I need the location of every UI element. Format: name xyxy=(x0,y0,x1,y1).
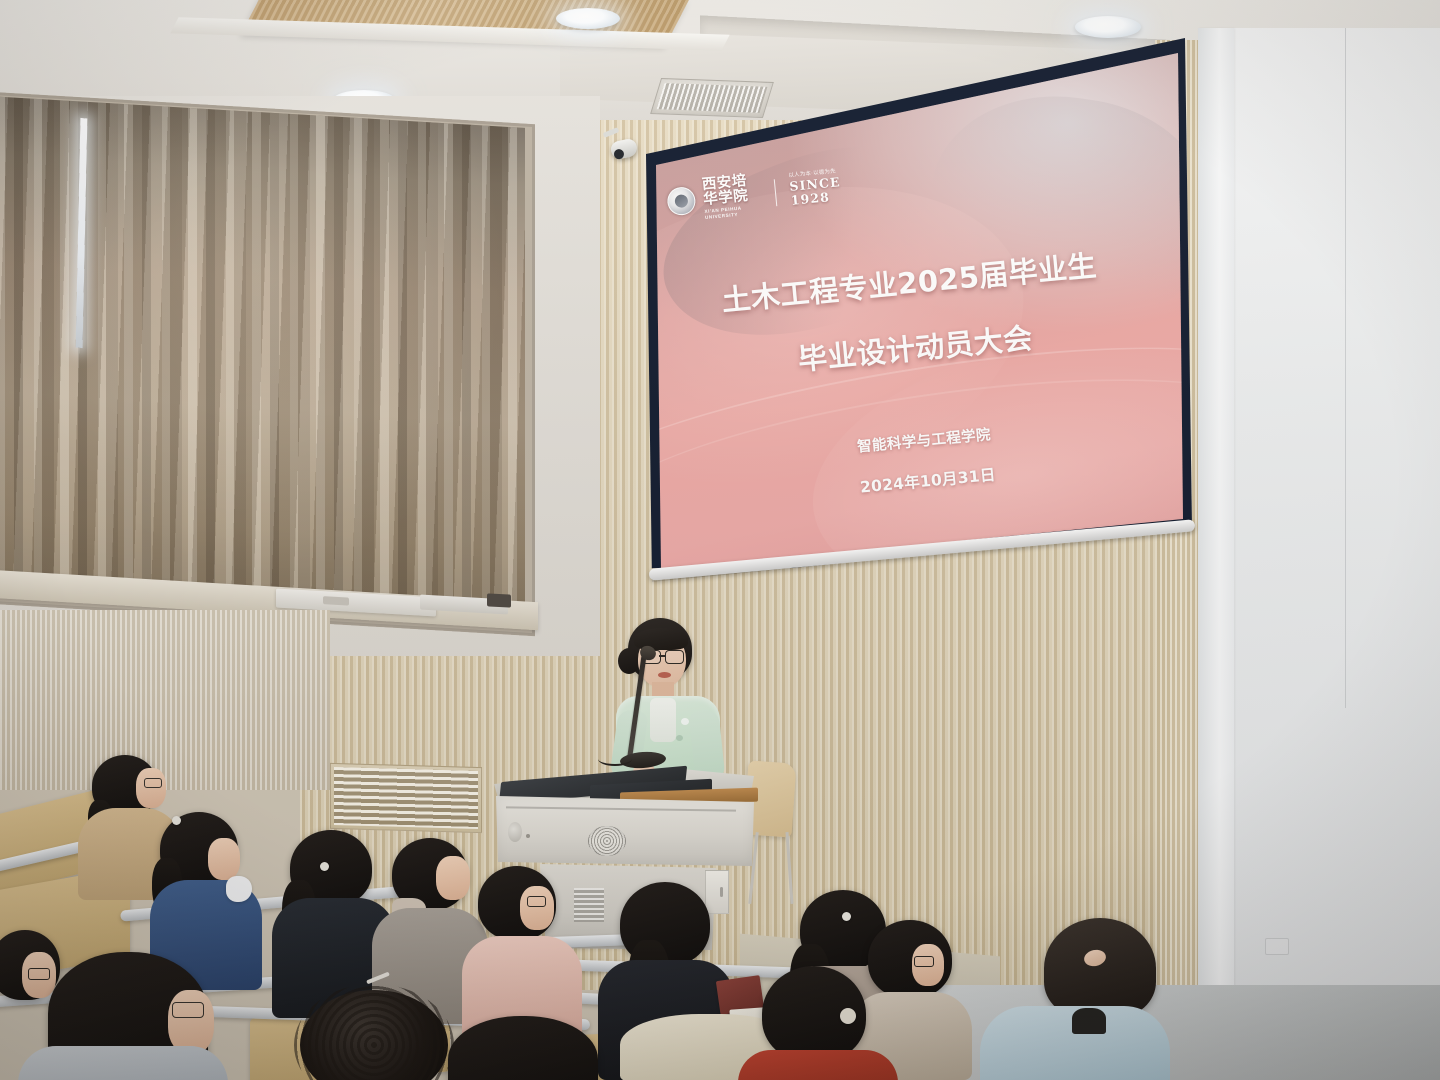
audience-head xyxy=(300,990,448,1080)
eyeglasses-icon xyxy=(527,896,546,907)
audience-face xyxy=(520,886,554,930)
hair-tie xyxy=(842,912,851,921)
audience-face xyxy=(136,768,166,808)
audience-head xyxy=(1044,918,1156,1018)
eyeglasses-icon xyxy=(144,778,162,788)
audience-face xyxy=(208,838,240,880)
shirt-collar xyxy=(1072,1008,1106,1034)
audience-face xyxy=(436,856,470,900)
audience-face xyxy=(168,990,214,1054)
eyeglasses-icon xyxy=(914,956,934,967)
eyeglasses-icon xyxy=(28,968,50,980)
hair-tie xyxy=(840,1008,856,1024)
audience-body xyxy=(738,1050,898,1080)
audience xyxy=(0,0,1440,1080)
hair-tie xyxy=(320,862,329,871)
face-mask xyxy=(226,876,252,902)
audience-body xyxy=(18,1046,228,1080)
lecture-hall-photo: 西安培华学院 XI'AN PEIHUA UNIVERSITY 以人为本·以德为先… xyxy=(0,0,1440,1080)
hair-tie xyxy=(172,816,181,825)
eyeglasses-icon xyxy=(172,1002,204,1018)
